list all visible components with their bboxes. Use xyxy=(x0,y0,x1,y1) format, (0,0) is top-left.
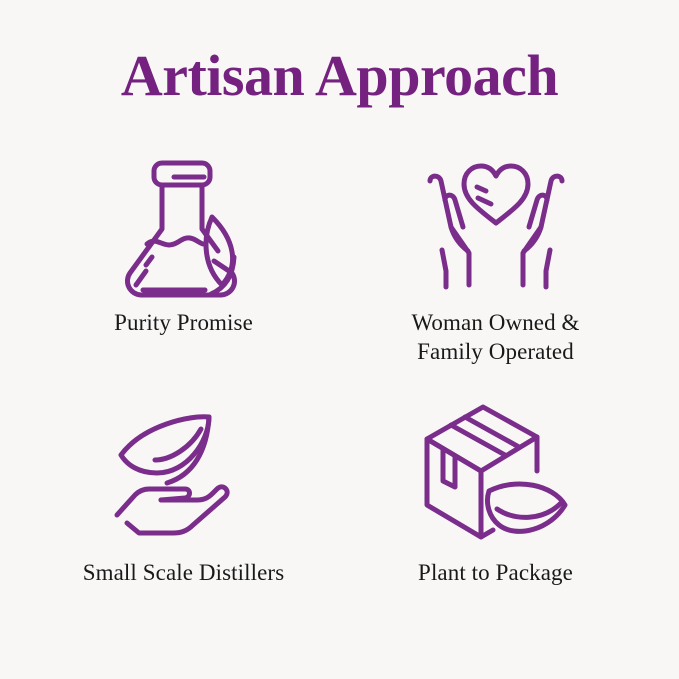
feature-grid: Purity Promise xyxy=(0,150,679,650)
box-leaf-icon xyxy=(421,400,571,550)
feature-item-purity-promise: Purity Promise xyxy=(14,150,353,390)
flask-leaf-icon xyxy=(109,150,259,300)
artisan-approach-panel: Artisan Approach xyxy=(0,0,679,679)
hands-holding-heart-icon xyxy=(421,150,571,300)
feature-label: Small Scale Distillers xyxy=(83,558,285,587)
feature-item-woman-owned: Woman Owned & Family Operated xyxy=(326,150,665,390)
page-title: Artisan Approach xyxy=(0,46,679,107)
feature-label-line1: Small Scale Distillers xyxy=(83,560,285,585)
feature-label-line2: Family Operated xyxy=(411,337,579,366)
feature-label-line1: Plant to Package xyxy=(418,560,573,585)
feature-item-plant-to-package: Plant to Package xyxy=(326,400,665,640)
feature-label: Woman Owned & Family Operated xyxy=(411,308,579,367)
feature-label: Purity Promise xyxy=(114,308,253,337)
feature-item-small-scale-distillers: Small Scale Distillers xyxy=(14,400,353,640)
feature-label-line1: Purity Promise xyxy=(114,310,253,335)
hand-holding-leaf-icon xyxy=(109,400,259,550)
feature-label-line1: Woman Owned & xyxy=(411,310,579,335)
feature-label: Plant to Package xyxy=(418,558,573,587)
